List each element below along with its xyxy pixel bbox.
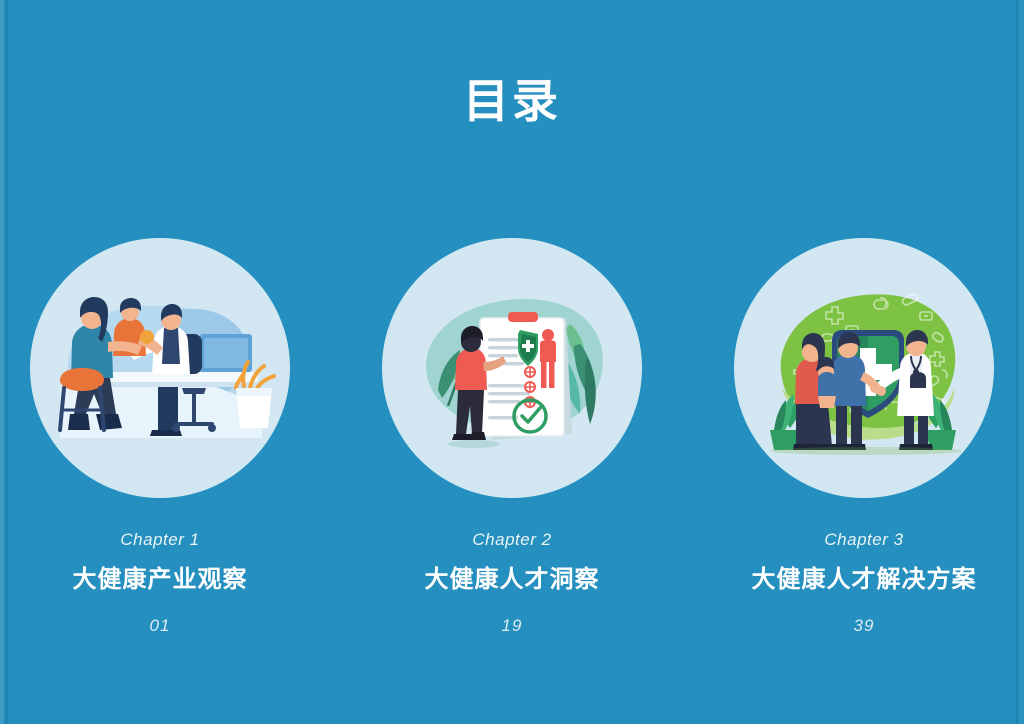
toc-slide: 目录: [0, 0, 1024, 724]
chapter-1-label: Chapter 1: [120, 530, 199, 550]
chapter-card-3[interactable]: Chapter 3 大健康人才解决方案 39: [714, 238, 1014, 636]
family-doctor-consultation-icon: [30, 238, 290, 498]
chapter-2-title: 大健康人才洞察: [425, 559, 600, 594]
chapter-card-2[interactable]: Chapter 2 大健康人才洞察 19: [362, 238, 662, 636]
chapter-2-label: Chapter 2: [472, 530, 551, 550]
chapter-1-page-number: 01: [150, 616, 171, 636]
chapter-3-label: Chapter 3: [824, 530, 903, 550]
chapter-card-1[interactable]: Chapter 1 大健康产业观察 01: [10, 238, 310, 636]
family-health-shield-icon: [734, 238, 994, 498]
chapter-2-page-number: 19: [502, 616, 523, 636]
chapter-2-illustration-circle: [382, 238, 642, 498]
health-checklist-clipboard-icon: [382, 238, 642, 498]
chapter-3-page-number: 39: [854, 616, 875, 636]
chapter-3-title: 大健康人才解决方案: [752, 559, 977, 594]
chapter-1-illustration-circle: [30, 238, 290, 498]
chapter-1-title: 大健康产业观察: [73, 559, 248, 594]
chapter-3-illustration-circle: [734, 238, 994, 498]
page-title: 目录: [0, 78, 1024, 124]
chapter-list: Chapter 1 大健康产业观察 01: [0, 238, 1024, 636]
